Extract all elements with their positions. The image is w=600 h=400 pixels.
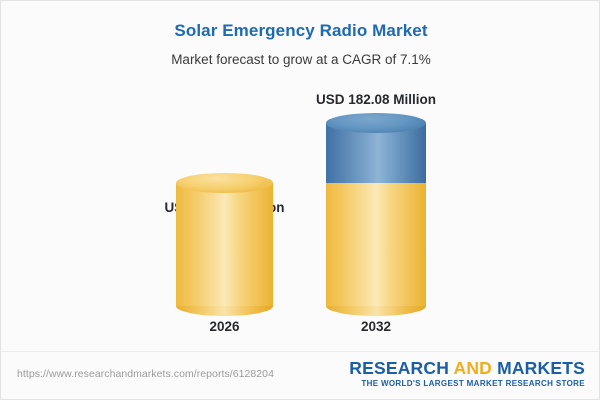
- logo-word-markets: MARKETS: [497, 358, 585, 378]
- bar-2032-base-segment[interactable]: [326, 183, 426, 306]
- logo-wordmark: RESEARCH AND MARKETS: [349, 359, 585, 377]
- bar-value-label-2032: USD 182.08 Million: [316, 92, 436, 107]
- logo-tagline: THE WORLD'S LARGEST MARKET RESEARCH STOR…: [349, 379, 585, 388]
- bar-2032-growth-segment[interactable]: [326, 123, 426, 183]
- bar-group-2032: USD 182.08 Million 2032: [326, 1, 426, 353]
- logo-word-and: AND: [453, 358, 492, 378]
- bar-group-2026: USD 120.24 Million 2026: [176, 1, 273, 353]
- plot-area: USD 120.24 Million 2026 USD 182.08 Milli…: [1, 1, 600, 353]
- bar-2026[interactable]: [176, 183, 273, 306]
- cylinder-top-ellipse: [326, 113, 426, 133]
- category-label-2026: 2026: [209, 319, 239, 334]
- cylinder-body: [176, 183, 273, 306]
- cylinder-body: [326, 183, 426, 306]
- footer: https://www.researchandmarkets.com/repor…: [1, 351, 600, 399]
- chart-card: Solar Emergency Radio Market Market fore…: [0, 0, 600, 400]
- report-url[interactable]: https://www.researchandmarkets.com/repor…: [17, 368, 274, 380]
- category-label-2032: 2032: [361, 319, 391, 334]
- logo-word-research: RESEARCH: [349, 358, 449, 378]
- brand-logo[interactable]: RESEARCH AND MARKETS THE WORLD'S LARGEST…: [349, 359, 585, 388]
- cylinder-top-ellipse: [176, 173, 273, 193]
